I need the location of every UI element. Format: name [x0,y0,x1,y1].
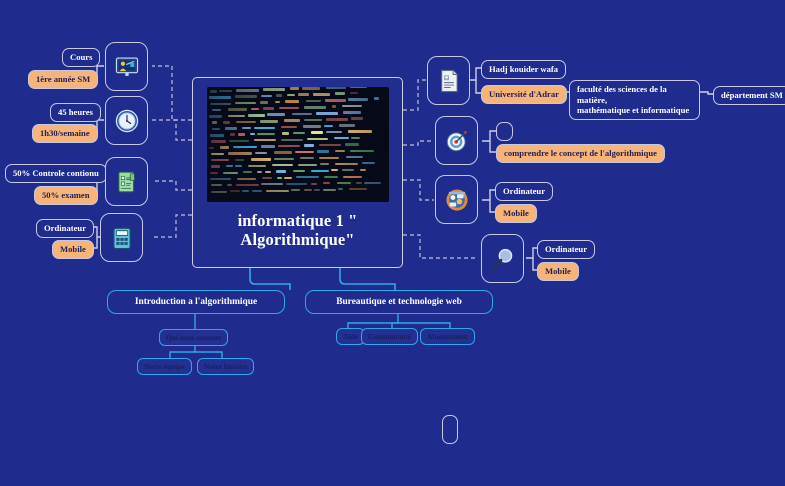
node-qui-nous-sommes[interactable]: Qui nous sommes [159,329,228,346]
communication-people-icon-glyph [444,187,470,213]
empty-placeholder-node[interactable] [442,415,458,444]
id-document-icon-glyph [436,68,462,94]
calculator-icon-glyph [109,225,135,251]
node-notre-equipe[interactable]: Notre équipe [137,358,192,375]
node-ordinateur-left[interactable]: Ordinateur [36,219,94,238]
checklist-icon[interactable] [105,157,148,206]
node-communaute[interactable]: Communauté [361,328,418,345]
target-dartboard-icon-glyph [444,128,470,154]
node-mobile-right-1[interactable]: Mobile [495,204,537,223]
clock-icon-glyph [114,108,140,134]
communication-people-icon[interactable] [435,175,478,224]
node-45-heures[interactable]: 45 heures [50,103,101,122]
node-bureautique-technologie-web[interactable]: Bureautique et technologie web [305,290,493,314]
empty-node-right-1[interactable] [496,122,513,141]
page-title: informatique 1 " Algorithmique" [238,211,358,250]
node-hadj-kouider-wafa[interactable]: Hadj kouider wafa [481,60,566,79]
source-code-photo [207,87,389,202]
node-comprendre-concept[interactable]: comprendre le concept de l'algorithmique [496,144,665,163]
center-title-line1: informatique 1 " [238,211,358,230]
magnifier-icon-glyph [490,246,516,272]
node-ordinateur-right-1[interactable]: Ordinateur [495,182,553,201]
clock-icon[interactable] [105,96,148,145]
node-examen[interactable]: 50% examen [34,186,98,205]
target-dartboard-icon[interactable] [435,116,478,165]
magnifier-icon[interactable] [481,234,524,283]
node-abonnement[interactable]: Abonnement [420,328,475,345]
node-cours[interactable]: Cours [62,48,100,67]
mindmap-canvas: informatique 1 " Algorithmique" Cours 1è… [0,0,785,486]
faculte-line2: mathématique et informatique [577,105,689,115]
node-controle-continu[interactable]: 50% Controle contionu [5,164,107,183]
node-universite-adrar[interactable]: Université d'Adrar [481,85,567,104]
node-1h30-semaine[interactable]: 1h30/semaine [32,124,98,143]
presentation-board-icon-glyph [114,54,140,80]
node-premiere-annee-sm[interactable]: 1ère année SM [28,70,98,89]
id-document-icon[interactable] [427,56,470,105]
node-mobile-right-2[interactable]: Mobile [537,262,579,281]
node-introduction-algorithmique[interactable]: Introduction a l'algorithmique [107,290,285,314]
node-notre-histoire[interactable]: Notre histoire [197,358,254,375]
node-faculte-sciences[interactable]: faculté des sciences de la matière, math… [569,80,700,120]
central-topic-node[interactable]: informatique 1 " Algorithmique" [192,77,403,268]
node-ordinateur-right-2[interactable]: Ordinateur [537,240,595,259]
center-title-line2: Algorithmique" [240,230,354,249]
presentation-board-icon[interactable] [105,42,148,91]
node-departement-sm[interactable]: département SM [713,86,785,105]
calculator-icon[interactable] [100,213,143,262]
checklist-icon-glyph [114,169,140,195]
node-mobile-left[interactable]: Mobile [52,240,94,259]
faculte-line1: faculté des sciences de la matière, [577,84,667,105]
